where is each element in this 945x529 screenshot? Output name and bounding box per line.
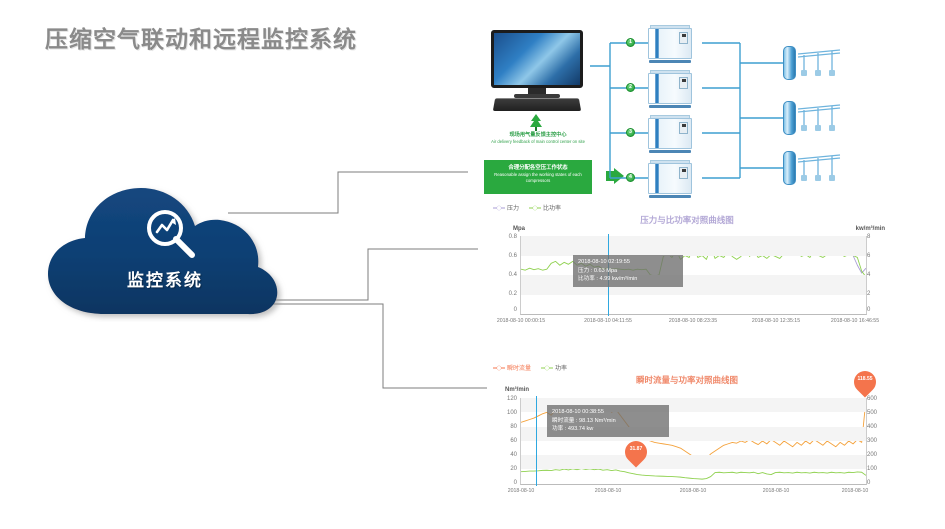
compressor-foot bbox=[649, 150, 691, 153]
chart2-y2tick-6: 0 bbox=[867, 480, 885, 486]
chart2-tooltip-time: 2018-08-10 00:38:55 bbox=[552, 408, 664, 417]
chart1-tooltip-time: 2018-08-10 02:19:55 bbox=[578, 258, 678, 267]
legend-item-flow[interactable]: 瞬时流量 bbox=[493, 363, 531, 372]
compressor-foot bbox=[649, 195, 691, 198]
tank-body bbox=[783, 101, 796, 135]
chart2-tooltip-power: 功率 : 493.74 kw bbox=[552, 425, 664, 434]
chart1-title: 压力与比功率对照曲线图 bbox=[487, 214, 887, 226]
chart-flow-vs-power: 瞬时流量 功率 瞬时流量与功率对照曲线图 Nm³/min 120 100 80 … bbox=[487, 363, 887, 508]
chart1-xtick-1: 2018-08-10 04:11:55 bbox=[577, 318, 639, 325]
chart1-legend: 压力 比功率 bbox=[493, 203, 561, 212]
chart1-ytick-4: 0 bbox=[495, 307, 517, 313]
compressor-indicator bbox=[682, 34, 686, 37]
pipe-rack-3 bbox=[798, 151, 842, 183]
chart1-y2tick-0: 8 bbox=[867, 234, 881, 240]
node-dot-2[interactable]: 2 bbox=[626, 83, 635, 92]
pipe-rack-2 bbox=[798, 101, 842, 133]
chart1-tooltip-pressure: 压力 : 0.63 Mpa bbox=[578, 267, 678, 276]
system-diagram: 现场用气量反馈主控中心 Air delivery feedback of mai… bbox=[440, 18, 940, 203]
chart2-title: 瞬时流量与功率对照曲线图 bbox=[487, 374, 887, 386]
compressor-indicator bbox=[682, 169, 686, 172]
page-title: 压缩空气联动和远程监控系统 bbox=[45, 20, 357, 54]
pin-shape bbox=[849, 366, 880, 397]
legend-label-pressure: 压力 bbox=[507, 203, 519, 212]
chart2-y2tick-5: 100 bbox=[867, 466, 885, 472]
tree-icon bbox=[528, 114, 544, 132]
legend-label-flow: 瞬时流量 bbox=[507, 363, 531, 372]
chart2-ytick-4: 40 bbox=[493, 452, 517, 458]
chart2-max-marker-label: 118.55 bbox=[854, 376, 876, 382]
chart1-y2tick-3: 2 bbox=[867, 291, 881, 297]
chart1-tooltip-specific-power: 比功率 : 4.99 kw/m³/min bbox=[578, 275, 678, 284]
monitor-screen bbox=[491, 30, 583, 88]
chart-pressure-vs-specific-power: 压力 比功率 压力与比功率对照曲线图 Mpa kw/m³/min 0.8 0.6… bbox=[487, 203, 887, 338]
chart2-xtick-3: 2018-08-10 bbox=[745, 488, 807, 495]
compressor-3[interactable] bbox=[648, 115, 692, 151]
chart2-tooltip-flow: 瞬时流量 : 98.13 Nm³/min bbox=[552, 417, 664, 426]
chart1-xtick-2: 2018-08-10 08:23:35 bbox=[662, 318, 724, 325]
chart2-ytick-1: 100 bbox=[493, 410, 517, 416]
legend-item-specific-power[interactable]: 比功率 bbox=[529, 203, 561, 212]
monitor-caption-en: Air delivery feedback of main control ce… bbox=[478, 139, 598, 144]
compressor-indicator bbox=[682, 124, 686, 127]
legend-marker-power bbox=[541, 365, 553, 371]
chart2-y2tick-4: 200 bbox=[867, 452, 885, 458]
chart1-tooltip: 2018-08-10 02:19:55 压力 : 0.63 Mpa 比功率 : … bbox=[573, 255, 683, 287]
chart2-ytick-5: 20 bbox=[493, 466, 517, 472]
chart2-xtick-0: 2018-08-10 bbox=[490, 488, 552, 495]
status-banner-en: Reasonable assign the working states of … bbox=[484, 172, 592, 183]
tank-body bbox=[783, 46, 796, 80]
control-center-monitor bbox=[488, 30, 586, 110]
chart2-xtick-4: 2018-08-10 bbox=[824, 488, 886, 495]
legend-marker-specific-power bbox=[529, 205, 541, 211]
compressor-foot bbox=[649, 60, 691, 63]
air-tank-1 bbox=[783, 46, 796, 80]
chart1-ytick-1: 0.6 bbox=[495, 253, 517, 259]
status-banner: 合理分配各空压工作状态 Reasonable assign the workin… bbox=[484, 160, 592, 194]
chart2-min-marker-label: 31.87 bbox=[625, 446, 647, 452]
air-tank-2 bbox=[783, 101, 796, 135]
air-tank-3 bbox=[783, 151, 796, 185]
chart2-legend: 瞬时流量 功率 bbox=[493, 363, 567, 372]
chart1-xtick-3: 2018-08-10 12:35:15 bbox=[745, 318, 807, 325]
chart1-ytick-2: 0.4 bbox=[495, 272, 517, 278]
chart2-max-marker[interactable]: 118.55 bbox=[854, 371, 876, 399]
legend-item-pressure[interactable]: 压力 bbox=[493, 203, 519, 212]
chart2-cursor[interactable] bbox=[536, 396, 537, 486]
legend-label-specific-power: 比功率 bbox=[543, 203, 561, 212]
chart1-y2tick-4: 0 bbox=[867, 307, 881, 313]
compressor-2[interactable] bbox=[648, 70, 692, 106]
chart2-ytick-3: 60 bbox=[493, 438, 517, 444]
node-dot-1[interactable]: 1 bbox=[626, 38, 635, 47]
legend-marker-pressure bbox=[493, 205, 505, 211]
legend-marker-flow bbox=[493, 365, 505, 371]
chart1-y-unit: Mpa bbox=[513, 226, 525, 232]
chart2-y2tick-3: 300 bbox=[867, 438, 885, 444]
monitor-caption: 现场用气量反馈主控中心 Air delivery feedback of mai… bbox=[478, 132, 598, 144]
chart1-y2-unit: kw/m³/min bbox=[856, 226, 885, 232]
compressor-foot bbox=[649, 105, 691, 108]
compressor-indicator bbox=[682, 79, 686, 82]
chart1-y2tick-2: 4 bbox=[867, 272, 881, 278]
monitoring-cloud[interactable]: 监控系统 bbox=[42, 182, 288, 322]
cloud-label: 监控系统 bbox=[42, 266, 288, 291]
piping-network bbox=[590, 18, 940, 203]
chart2-y2tick-1: 500 bbox=[867, 410, 885, 416]
chart2-xtick-1: 2018-08-10 bbox=[577, 488, 639, 495]
chart2-ytick-0: 120 bbox=[493, 396, 517, 402]
legend-item-power[interactable]: 功率 bbox=[541, 363, 567, 372]
tank-body bbox=[783, 151, 796, 185]
chart2-min-marker[interactable]: 31.87 bbox=[625, 441, 647, 469]
slide-canvas: 压缩空气联动和远程监控系统 bbox=[0, 0, 945, 529]
pipe-rack-1 bbox=[798, 46, 842, 78]
chart2-ytick-6: 0 bbox=[493, 480, 517, 486]
chart1-xtick-4: 2018-08-10 16:46:55 bbox=[824, 318, 886, 325]
chart1-ytick-0: 0.8 bbox=[495, 234, 517, 240]
pin-shape bbox=[620, 436, 651, 467]
chart1-ytick-3: 0.2 bbox=[495, 291, 517, 297]
chart2-y2tick-2: 400 bbox=[867, 424, 885, 430]
chart2-ytick-2: 80 bbox=[493, 424, 517, 430]
chart2-xtick-2: 2018-08-10 bbox=[662, 488, 724, 495]
status-banner-cn: 合理分配各空压工作状态 bbox=[484, 165, 592, 172]
chart2-tooltip: 2018-08-10 00:38:55 瞬时流量 : 98.13 Nm³/min… bbox=[547, 405, 669, 437]
chart2-y-unit: Nm³/min bbox=[505, 387, 529, 393]
chart1-y2tick-1: 6 bbox=[867, 253, 881, 259]
chart2-band-2 bbox=[521, 455, 866, 469]
legend-label-power: 功率 bbox=[555, 363, 567, 372]
magnifier-chart-icon bbox=[140, 206, 202, 264]
chart1-xtick-0: 2018-08-10 00:00:15 bbox=[490, 318, 552, 325]
compressor-1[interactable] bbox=[648, 25, 692, 61]
keyboard bbox=[493, 98, 581, 111]
node-dot-4[interactable]: 4 bbox=[626, 173, 635, 182]
node-dot-3[interactable]: 3 bbox=[626, 128, 635, 137]
compressor-4[interactable] bbox=[648, 160, 692, 196]
chart1-band-0 bbox=[521, 236, 866, 256]
